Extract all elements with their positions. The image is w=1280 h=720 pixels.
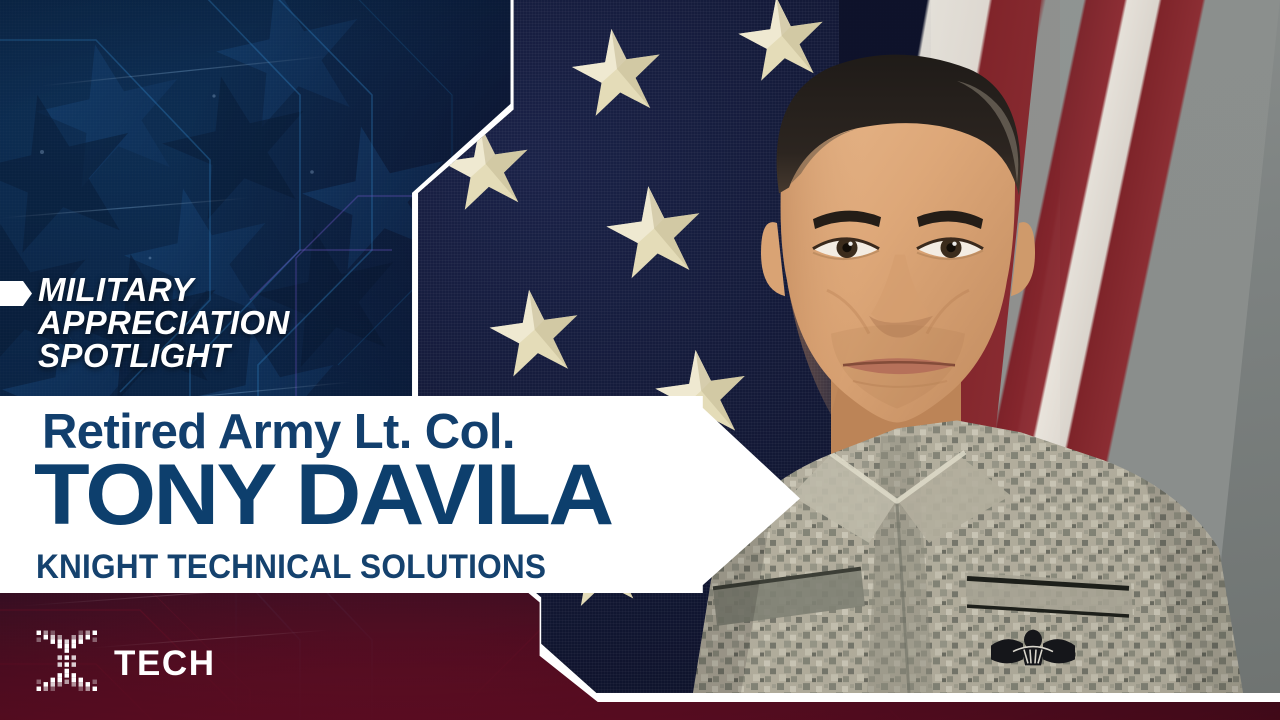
- x-pixel-mark-icon: [34, 628, 104, 698]
- spotlight-graphic: MILITARY APPRECIATION SPOTLIGHT Retired …: [0, 0, 1280, 720]
- xtech-logo[interactable]: TECH: [34, 628, 216, 698]
- person-name: TONY DAVILA: [34, 452, 612, 538]
- kicker-line-2: APPRECIATION: [38, 306, 458, 339]
- company-name: KNIGHT TECHNICAL SOLUTIONS: [36, 548, 546, 587]
- logo-text: TECH: [114, 646, 216, 681]
- kicker-line-1: MILITARY: [38, 273, 458, 306]
- kicker-line-3: SPOTLIGHT: [38, 339, 458, 372]
- kicker-headline: MILITARY APPRECIATION SPOTLIGHT: [38, 273, 458, 372]
